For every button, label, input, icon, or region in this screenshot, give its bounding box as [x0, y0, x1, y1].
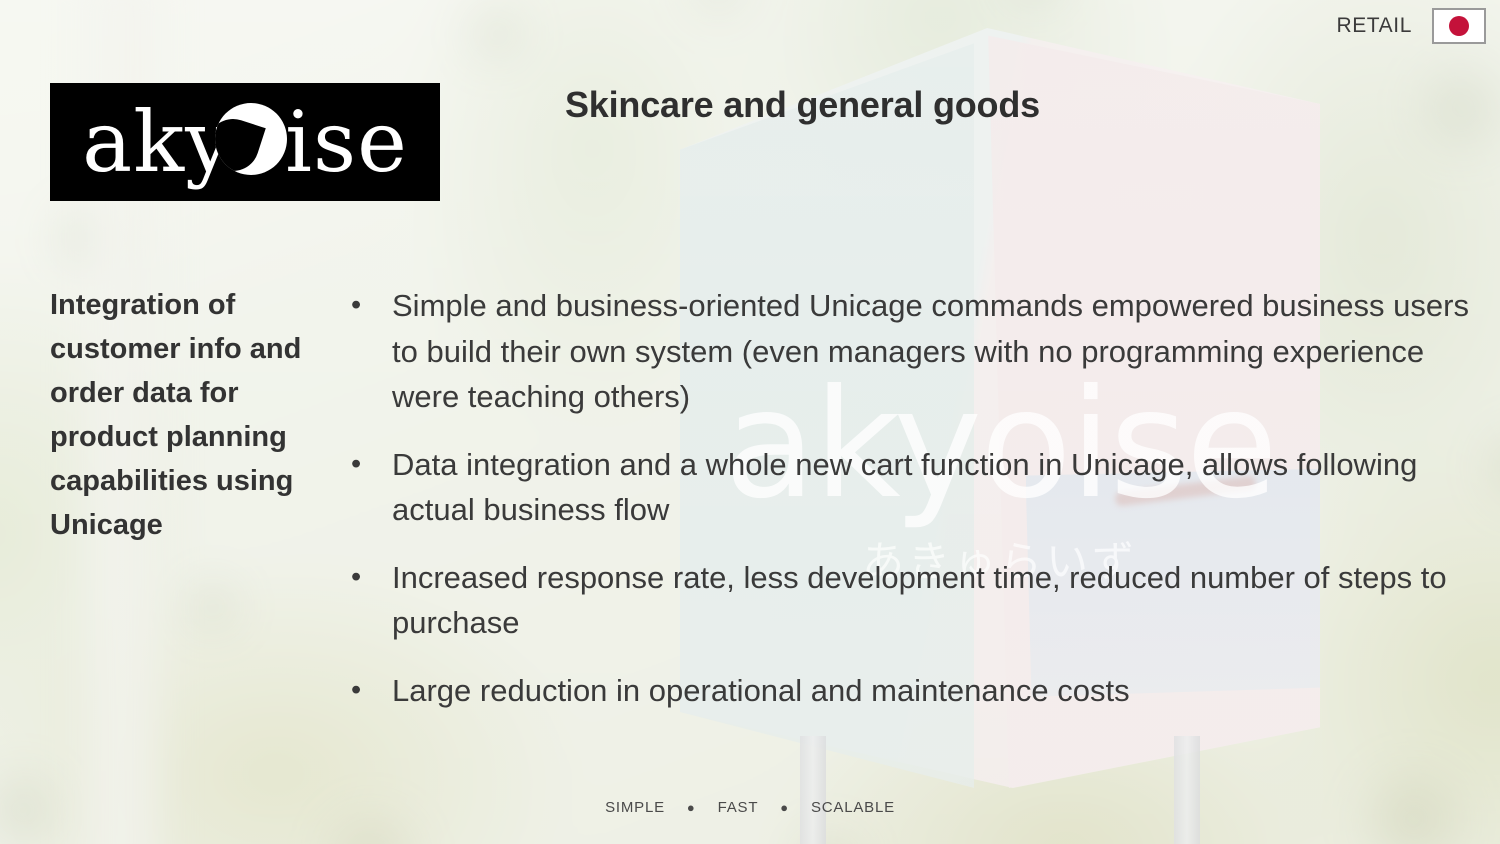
slide-canvas: akyoise あきゅらいず RETAIL akyoise Skincare a… — [0, 0, 1500, 844]
footer-separator-icon: ● — [780, 800, 789, 815]
company-logo: akyoise — [50, 83, 440, 201]
bullet-marker: • — [345, 283, 392, 327]
list-item: • Data integration and a whole new cart … — [345, 442, 1495, 533]
footer-tagline: SIMPLE ● FAST ● SCALABLE — [0, 799, 1500, 816]
japan-flag-icon — [1432, 8, 1486, 44]
bullet-text: Data integration and a whole new cart fu… — [392, 442, 1495, 533]
slide-content: RETAIL akyoise Skincare and general good… — [0, 0, 1500, 844]
bullet-list: • Simple and business-oriented Unicage c… — [345, 283, 1495, 736]
list-item: • Large reduction in operational and mai… — [345, 668, 1495, 714]
footer-item-scalable: SCALABLE — [811, 799, 895, 816]
footer-separator-icon: ● — [687, 800, 696, 815]
footer-item-simple: SIMPLE — [605, 799, 665, 816]
bullet-text: Increased response rate, less developmen… — [392, 555, 1495, 646]
bullet-text: Simple and business-oriented Unicage com… — [392, 283, 1495, 420]
sector-label: RETAIL — [1336, 14, 1412, 38]
list-item: • Simple and business-oriented Unicage c… — [345, 283, 1495, 420]
bullet-text: Large reduction in operational and maint… — [392, 668, 1495, 714]
akyoise-circle-emblem-icon — [215, 103, 287, 175]
bullet-marker: • — [345, 668, 392, 712]
flag-disc-icon — [1449, 16, 1469, 36]
side-heading: Integration of customer info and order d… — [50, 283, 320, 547]
header-sector-area: RETAIL — [1336, 8, 1486, 44]
bullet-marker: • — [345, 442, 392, 486]
footer-item-fast: FAST — [718, 799, 759, 816]
page-title: Skincare and general goods — [565, 84, 1040, 126]
list-item: • Increased response rate, less developm… — [345, 555, 1495, 646]
bullet-marker: • — [345, 555, 392, 599]
